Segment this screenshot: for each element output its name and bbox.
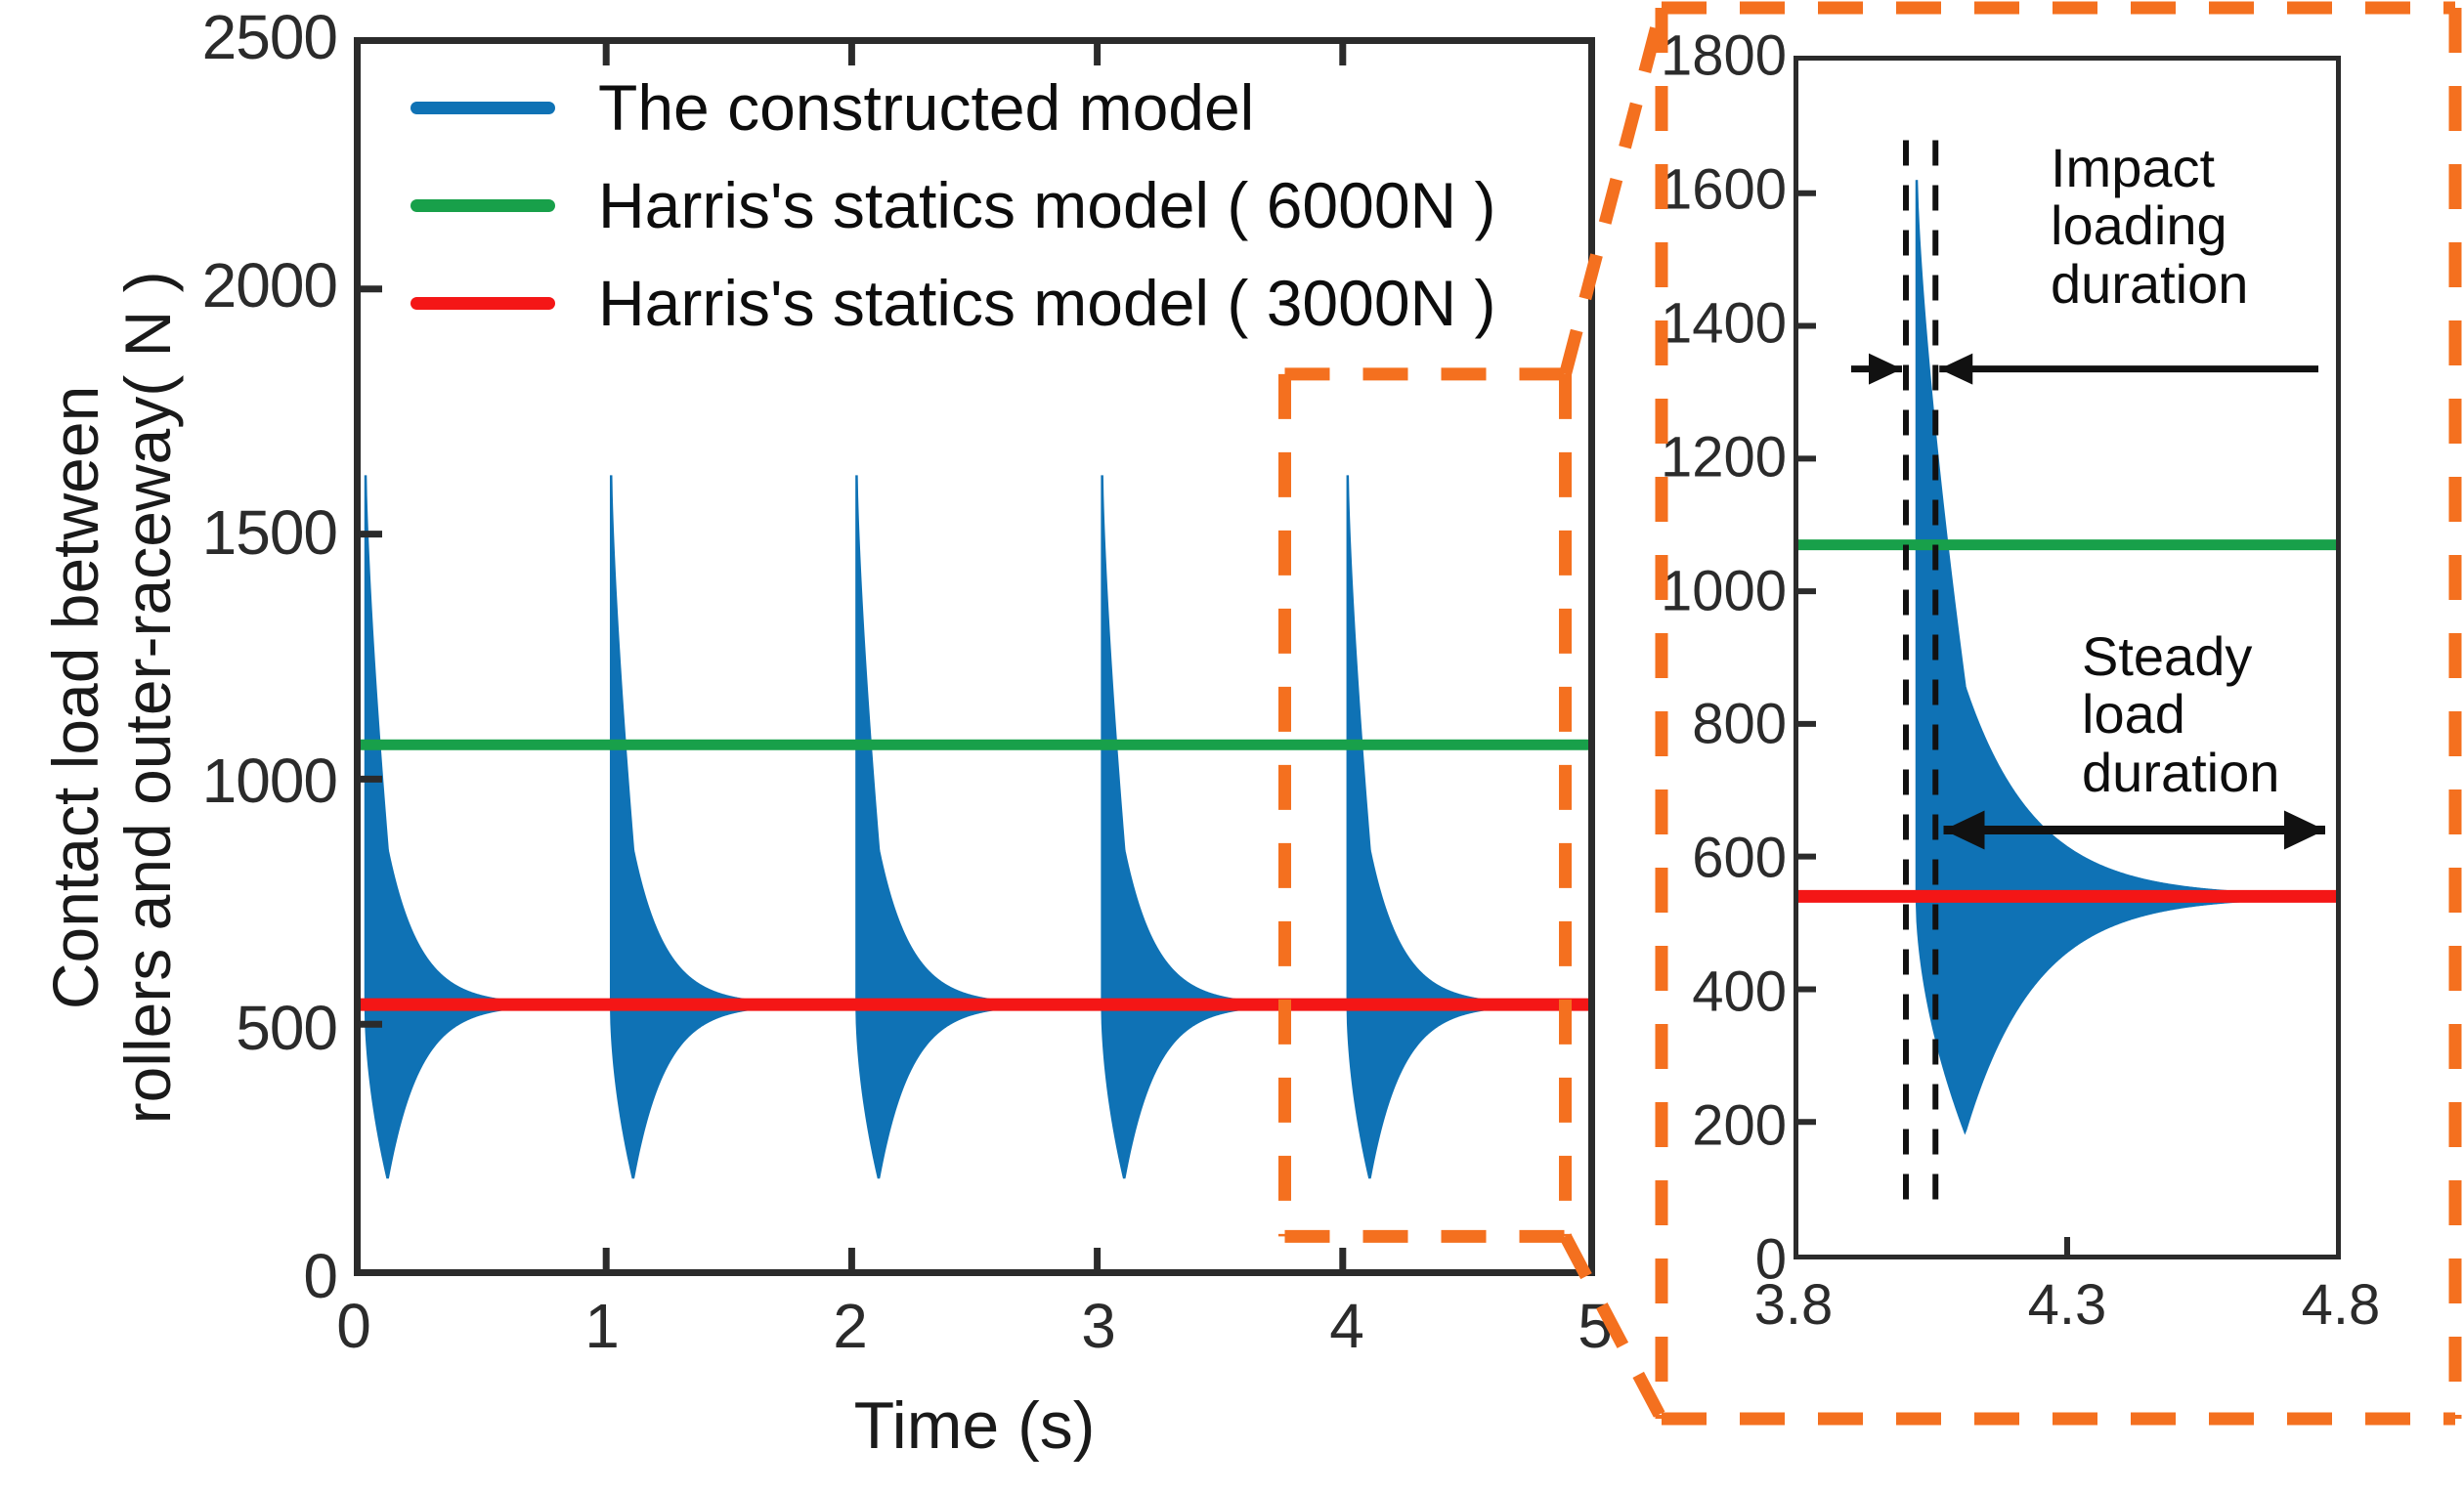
legend-swatch-blue — [411, 102, 555, 114]
inset-x-axis-tick-labels: 3.84.34.8 — [1794, 1272, 2341, 1350]
y-axis-tick-labels: 05001000150020002500 — [147, 37, 337, 1276]
inset-y-tick-label: 400 — [1692, 960, 1787, 1025]
impact-loading-duration-annotation: Impact loading duration — [2051, 139, 2248, 313]
x-tick-label: 4 — [1329, 1290, 1364, 1362]
y-tick-label: 1000 — [202, 745, 337, 817]
steady-line-2: load — [2082, 685, 2279, 743]
impact-line-2: loading — [2051, 196, 2248, 254]
inset-y-tick-label: 600 — [1692, 826, 1787, 891]
steady-load-duration-annotation: Steady load duration — [2082, 627, 2279, 801]
legend: The constructed model Harris's statics m… — [411, 59, 1427, 352]
inset-y-tick-label: 1800 — [1661, 23, 1787, 89]
x-axis-title: Time (s) — [354, 1387, 1595, 1464]
x-tick-label: 3 — [1081, 1290, 1116, 1362]
inset-x-tick-label: 4.3 — [2028, 1272, 2107, 1338]
y-tick-label: 500 — [236, 992, 337, 1064]
main-plot: Contact load between rollers and outer-r… — [0, 0, 1662, 1493]
legend-item-constructed-model[interactable]: The constructed model — [411, 59, 1427, 156]
inset-y-tick-label: 200 — [1692, 1093, 1787, 1159]
y-tick-label: 0 — [303, 1240, 337, 1312]
legend-swatch-red — [411, 297, 555, 310]
x-axis-tick-labels: 012345 — [354, 1290, 1595, 1368]
y-axis-title-line1: Contact load between — [40, 97, 112, 1299]
figure-root: Contact load between rollers and outer-r… — [0, 0, 2464, 1493]
impact-line-1: Impact — [2051, 139, 2248, 196]
legend-item-harris-6000n[interactable]: Harris's statics model ( 6000N ) — [411, 156, 1427, 254]
inset-x-tick-label: 3.8 — [1754, 1272, 1834, 1338]
x-tick-label: 2 — [833, 1290, 868, 1362]
inset-plot: 020040060080010001200140016001800 Impact… — [1701, 21, 2445, 1370]
inset-y-tick-label: 800 — [1692, 692, 1787, 757]
x-tick-label: 1 — [584, 1290, 620, 1362]
x-tick-label: 0 — [336, 1290, 371, 1362]
inset-y-tick-label: 1200 — [1661, 424, 1787, 490]
y-tick-label: 2500 — [202, 1, 337, 73]
legend-label-constructed-model: The constructed model — [598, 70, 1254, 145]
impact-line-3: duration — [2051, 255, 2248, 313]
inset-y-tick-label: 1000 — [1661, 558, 1787, 623]
x-tick-label: 5 — [1578, 1290, 1613, 1362]
inset-y-axis-tick-labels: 020040060080010001200140016001800 — [1642, 56, 1787, 1259]
steady-line-1: Steady — [2082, 627, 2279, 685]
legend-label-harris-6000n: Harris's statics model ( 6000N ) — [598, 168, 1496, 242]
inset-x-tick-label: 4.8 — [2302, 1272, 2381, 1338]
legend-swatch-green — [411, 199, 555, 212]
legend-label-harris-3000n: Harris's statics model ( 3000N ) — [598, 266, 1496, 340]
inset-y-tick-label: 1400 — [1661, 290, 1787, 356]
inset-y-tick-label: 1600 — [1661, 156, 1787, 222]
series-constructed-model — [361, 475, 1588, 1178]
y-tick-label: 2000 — [202, 249, 337, 321]
legend-item-harris-3000n[interactable]: Harris's statics model ( 3000N ) — [411, 254, 1427, 352]
steady-line-3: duration — [2082, 744, 2279, 801]
y-tick-label: 1500 — [202, 496, 337, 569]
